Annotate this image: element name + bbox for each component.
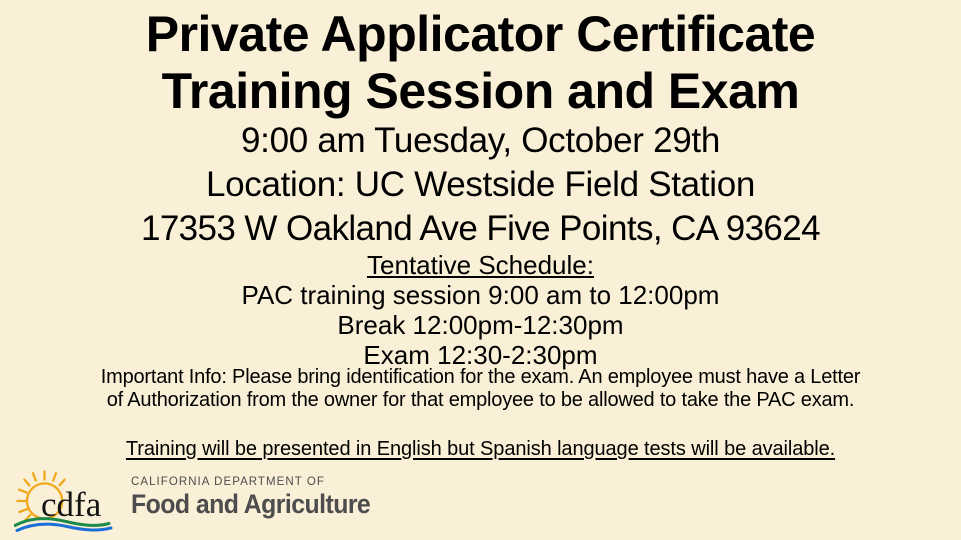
event-time: 9:00 am Tuesday, October 29th [0, 119, 961, 163]
schedule-section: Tentative Schedule: PAC training session… [0, 250, 961, 370]
title-line-2: Training Session and Exam [0, 63, 961, 120]
page-title: Private Applicator Certificate Training … [0, 6, 961, 120]
important-info-line-1: Important Info: Please bring identificat… [68, 366, 893, 389]
cdfa-agency-name: Food and Agriculture [131, 489, 329, 519]
important-info: Important Info: Please bring identificat… [68, 366, 893, 412]
cdfa-department-line: CALIFORNIA DEPARTMENT OF [131, 475, 346, 489]
title-line-1: Private Applicator Certificate [0, 6, 961, 63]
language-note-text: Training will be presented in English bu… [126, 437, 835, 462]
schedule-item-training: PAC training session 9:00 am to 12:00pm [0, 280, 961, 310]
event-location: Location: UC Westside Field Station [0, 163, 961, 207]
cdfa-logo: cdfa CALIFORNIA DEPARTMENT OF Food and A… [14, 470, 344, 534]
presentation-slide: Private Applicator Certificate Training … [0, 0, 961, 540]
schedule-item-break: Break 12:00pm-12:30pm [0, 310, 961, 340]
event-address: 17353 W Oakland Ave Five Points, CA 9362… [0, 207, 961, 251]
cdfa-wordmark: CALIFORNIA DEPARTMENT OF Food and Agricu… [131, 475, 346, 525]
event-details: 9:00 am Tuesday, October 29th Location: … [0, 119, 961, 251]
schedule-heading: Tentative Schedule: [0, 250, 961, 280]
language-note: Training will be presented in English bu… [0, 437, 961, 462]
cdfa-logo-mark-svg: cdfa [14, 470, 118, 532]
important-info-line-2: of Authorization from the owner for that… [68, 389, 893, 412]
cdfa-logo-mark: cdfa [14, 470, 118, 532]
